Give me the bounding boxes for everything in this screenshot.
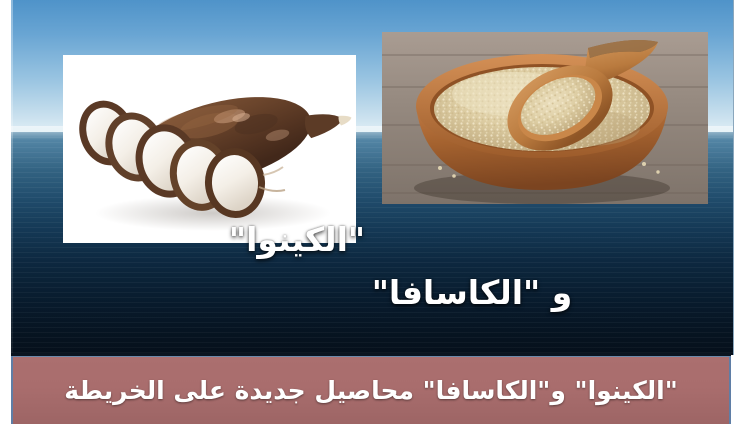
quinoa-photo [382,32,708,204]
caption-bar: "الكينوا" و"الكاسافا" محاصيل جديدة على ا… [11,356,731,424]
scene-left-edge [11,0,13,355]
background-scene: "الكينوا" و "الكاسافا" [11,0,734,355]
cassava-illustration [63,55,356,243]
cassava-photo [63,55,356,243]
slide: "الكينوا" و "الكاسافا" "الكينوا" و"الكاس… [0,0,750,430]
caption-text: "الكينوا" و"الكاسافا" محاصيل جديدة على ا… [13,376,729,406]
quinoa-illustration [382,32,708,204]
